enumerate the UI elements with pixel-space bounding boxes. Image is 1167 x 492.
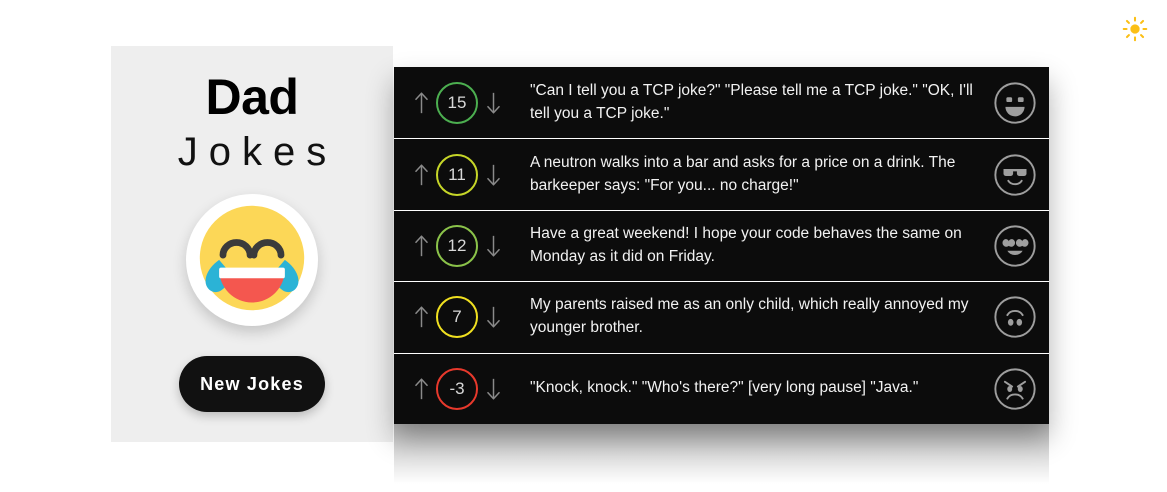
sunglasses-face-icon[interactable] xyxy=(991,151,1039,199)
downvote-button[interactable] xyxy=(480,88,506,118)
face-with-tears-of-joy-icon xyxy=(194,200,310,321)
joke-row: 15 "Can I tell you a TCP joke?" "Please … xyxy=(394,67,1049,138)
theme-toggle-button[interactable] xyxy=(1117,12,1153,48)
downvote-button[interactable] xyxy=(480,231,506,261)
joke-row: 7 My parents raised me as an only child,… xyxy=(394,281,1049,352)
title-line-jokes: Jokes xyxy=(167,132,338,172)
downvote-button[interactable] xyxy=(480,302,506,332)
angry-face-icon[interactable] xyxy=(991,365,1039,413)
app-root: Dad Jokes New Jokes xyxy=(0,0,1167,492)
score-badge: 12 xyxy=(436,225,478,267)
page-title: Dad Jokes xyxy=(167,72,338,172)
downvote-button[interactable] xyxy=(480,374,506,404)
joke-row: -3 "Knock, knock." "Who's there?" [very … xyxy=(394,353,1049,424)
hero-emoji-badge xyxy=(186,194,318,326)
upvote-button[interactable] xyxy=(408,231,434,261)
joke-text: Have a great weekend! I hope your code b… xyxy=(530,223,977,269)
title-line-dad: Dad xyxy=(167,72,338,122)
upvote-button[interactable] xyxy=(408,374,434,404)
upvote-button[interactable] xyxy=(408,160,434,190)
grinning-face-icon[interactable] xyxy=(991,79,1039,127)
score-badge: 7 xyxy=(436,296,478,338)
vote-group: 12 xyxy=(408,225,506,267)
joke-row: 12 Have a great weekend! I hope your cod… xyxy=(394,210,1049,281)
score-badge: 11 xyxy=(436,154,478,196)
upvote-button[interactable] xyxy=(408,88,434,118)
new-jokes-button[interactable]: New Jokes xyxy=(179,356,325,412)
joke-text: My parents raised me as an only child, w… xyxy=(530,294,977,340)
vote-group: 11 xyxy=(408,154,506,196)
joke-row: 11 A neutron walks into a bar and asks f… xyxy=(394,138,1049,209)
upside-down-face-icon[interactable] xyxy=(991,293,1039,341)
joke-text: "Can I tell you a TCP joke?" "Please tel… xyxy=(530,80,977,126)
downvote-button[interactable] xyxy=(480,160,506,190)
sun-icon xyxy=(1122,16,1148,45)
jokes-list: 15 "Can I tell you a TCP joke?" "Please … xyxy=(394,67,1049,424)
vote-group: -3 xyxy=(408,368,506,410)
vote-group: 15 xyxy=(408,82,506,124)
joke-text: "Knock, knock." "Who's there?" [very lon… xyxy=(530,377,977,400)
vote-group: 7 xyxy=(408,296,506,338)
upvote-button[interactable] xyxy=(408,302,434,332)
joke-text: A neutron walks into a bar and asks for … xyxy=(530,152,977,198)
hero-panel: Dad Jokes New Jokes xyxy=(111,46,393,442)
score-badge: -3 xyxy=(436,368,478,410)
panel-shadow xyxy=(394,424,1049,484)
score-badge: 15 xyxy=(436,82,478,124)
heart-eyes-face-icon[interactable] xyxy=(991,222,1039,270)
